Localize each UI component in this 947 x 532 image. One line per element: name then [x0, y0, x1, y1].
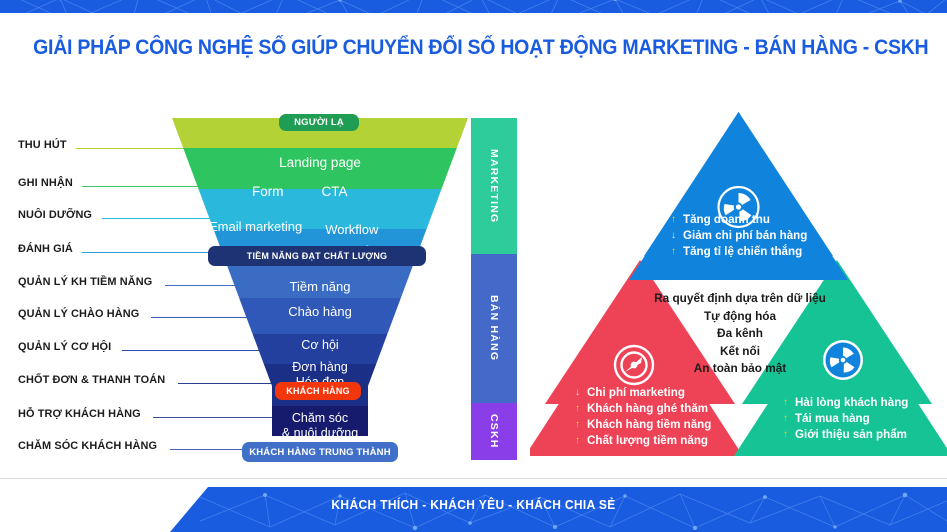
bullet-row: ↑ Hài lòng khách hàng	[780, 395, 908, 410]
stage-label-text: THU HÚT	[18, 139, 67, 151]
bullet-text: Hài lòng khách hàng	[795, 395, 908, 410]
category-segment-marketing[interactable]: MARKETING	[471, 118, 517, 254]
bullet-row: ↑ Tăng doanh thu	[668, 212, 807, 227]
bullet-row: ↑ Giới thiệu sản phẩm	[780, 427, 908, 442]
funnel-badge-customer[interactable]: KHÁCH HÀNG	[275, 382, 361, 400]
bullet-row: ↑ Khách hàng ghé thăm	[572, 401, 711, 416]
arrow-up-icon: ↑	[668, 212, 679, 227]
funnel-badge-qualified-lead[interactable]: TIỀM NĂNG ĐẠT CHẤT LƯỢNG	[208, 246, 426, 266]
bullet-text: Khách hàng ghé thăm	[587, 401, 708, 416]
stage-label-text: ĐÁNH GIÁ	[18, 243, 73, 255]
bullet-text: Chất lượng tiềm năng	[587, 433, 708, 448]
stage-label-text: QUẢN LÝ CƠ HỘI	[18, 341, 111, 353]
center-line: Đa kênh	[630, 325, 850, 343]
benefits-triangle-diagram: ↑ Tăng doanh thu ↓ Giảm chi phí bán hàng…	[530, 112, 947, 464]
bullet-text: Giảm chi phí bán hàng	[683, 228, 807, 243]
arrow-up-icon: ↑	[780, 411, 791, 426]
arrow-down-icon: ↓	[668, 228, 679, 243]
category-segment-sales[interactable]: BÁN HÀNG	[471, 254, 517, 403]
funnel-badge-label: KHÁCH HÀNG TRUNG THÀNH	[249, 447, 391, 458]
green-triangle-bullets: ↑ Hài lòng khách hàng ↑ Tái mua hàng ↑ G…	[780, 395, 908, 443]
center-line: Kết nối	[630, 343, 850, 361]
funnel-badge-loyal-customer[interactable]: KHÁCH HÀNG TRUNG THÀNH	[242, 442, 398, 462]
bullet-row: ↑ Tái mua hàng	[780, 411, 908, 426]
red-triangle-bullets: ↓ Chi phí marketing ↑ Khách hàng ghé thă…	[572, 385, 711, 449]
bullet-text: Tái mua hàng	[795, 411, 870, 426]
bullet-row: ↑ Chất lượng tiềm năng	[572, 433, 711, 448]
blue-triangle-bullets: ↑ Tăng doanh thu ↓ Giảm chi phí bán hàng…	[668, 212, 807, 260]
bullet-text: Chi phí marketing	[587, 385, 685, 400]
arrow-up-icon: ↑	[572, 433, 583, 448]
category-segment-cskh[interactable]: CSKH	[471, 403, 517, 460]
stage-label-text: CHĂM SÓC KHÁCH HÀNG	[18, 440, 157, 452]
stage-label-text: GHI NHẬN	[18, 177, 73, 189]
category-label: CSKH	[488, 414, 500, 449]
slide-canvas: GIẢI PHÁP CÔNG NGHỆ SỐ GIÚP CHUYỂN ĐỔI S…	[0, 0, 947, 532]
arrow-up-icon: ↑	[572, 401, 583, 416]
funnel-badge-stranger[interactable]: NGƯỜI LẠ	[279, 114, 359, 131]
funnel-badge-label: KHÁCH HÀNG	[286, 386, 350, 396]
arrow-up-icon: ↑	[668, 244, 679, 259]
stage-label-text: QUẢN LÝ KH TIỀM NĂNG	[18, 276, 152, 288]
funnel-badge-label: NGƯỜI LẠ	[294, 117, 344, 128]
marketing-funnel: Landing page Form CTA Email marketing Wo…	[172, 118, 468, 458]
page-title: GIẢI PHÁP CÔNG NGHỆ SỐ GIÚP CHUYỂN ĐỔI S…	[33, 36, 914, 60]
center-line: Tự động hóa	[630, 308, 850, 326]
arrow-up-icon: ↑	[780, 395, 791, 410]
triangle-center-text: Ra quyết định dựa trên dữ liệu Tự động h…	[630, 290, 850, 378]
category-label: MARKETING	[488, 149, 500, 223]
center-line: Ra quyết định dựa trên dữ liệu	[630, 290, 850, 308]
bullet-text: Tăng tỉ lệ chiến thắng	[683, 244, 802, 259]
category-label: BÁN HÀNG	[488, 295, 500, 361]
stage-label-text: HỖ TRỢ KHÁCH HÀNG	[18, 408, 141, 420]
bullet-row: ↑ Tăng tỉ lệ chiến thắng	[668, 244, 807, 259]
funnel-badge-label: TIỀM NĂNG ĐẠT CHẤT LƯỢNG	[247, 251, 387, 261]
stage-label-text: QUẢN LÝ CHÀO HÀNG	[18, 308, 139, 320]
arrow-up-icon: ↑	[780, 427, 791, 442]
bullet-text: Tăng doanh thu	[683, 212, 770, 227]
stage-label-text: CHỐT ĐƠN & THANH TOÁN	[18, 374, 165, 386]
channel-category-bar: MARKETING BÁN HÀNG CSKH	[471, 118, 517, 460]
footer-divider	[0, 478, 947, 479]
top-decorative-strip	[0, 0, 947, 13]
bullet-row: ↓ Giảm chi phí bán hàng	[668, 228, 807, 243]
bullet-row: ↓ Chi phí marketing	[572, 385, 711, 400]
center-line: An toàn bảo mật	[630, 360, 850, 378]
arrow-down-icon: ↓	[572, 385, 583, 400]
stage-label-text: NUÔI DƯỠNG	[18, 209, 92, 221]
bullet-text: Giới thiệu sản phẩm	[795, 427, 907, 442]
arrow-up-icon: ↑	[572, 417, 583, 432]
bullet-text: Khách hàng tiềm năng	[587, 417, 711, 432]
footer-slogan: KHÁCH THÍCH - KHÁCH YÊU - KHÁCH CHIA SẺ	[38, 497, 909, 512]
bullet-row: ↑ Khách hàng tiềm năng	[572, 417, 711, 432]
